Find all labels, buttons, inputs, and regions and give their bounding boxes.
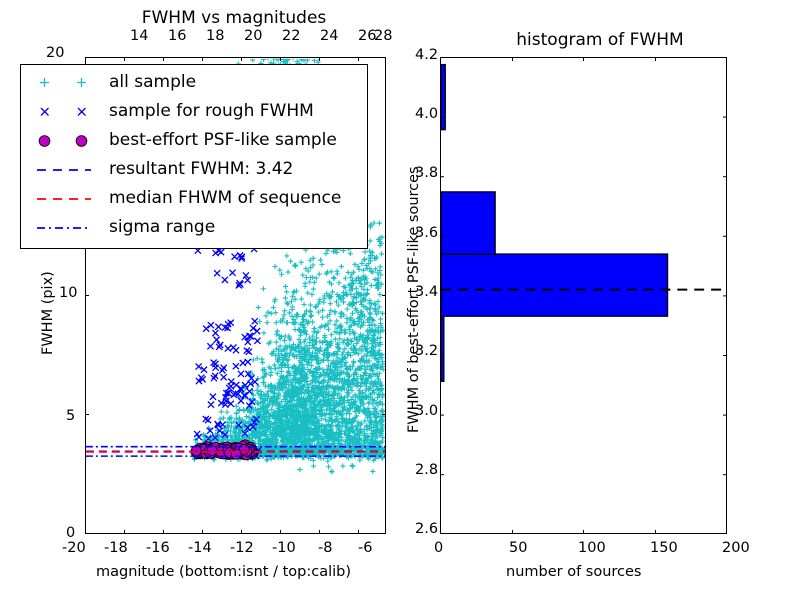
x-tick-label: 0 bbox=[434, 540, 443, 556]
y-tick-label: 4.0 bbox=[415, 106, 438, 122]
y-tick-label: 2.6 bbox=[415, 521, 438, 537]
top-tick-label: 28 bbox=[374, 28, 392, 44]
legend-item-all-sample[interactable]: all sample bbox=[27, 68, 361, 97]
right-plot-axes bbox=[440, 57, 727, 534]
plus-icon bbox=[27, 68, 109, 97]
cross-icon bbox=[27, 97, 109, 126]
top-tick-label: 18 bbox=[206, 28, 224, 44]
bottom-tick-label: -10 bbox=[272, 540, 296, 556]
left-panel-ylabel: FWHM (pix) bbox=[40, 271, 56, 355]
dashed-line-icon bbox=[27, 155, 109, 184]
bottom-tick-label: -12 bbox=[230, 540, 254, 556]
legend-label: sigma range bbox=[109, 219, 215, 236]
bottom-tick-label: -16 bbox=[146, 540, 170, 556]
histogram-bars bbox=[441, 65, 668, 382]
x-tick-label: 50 bbox=[509, 540, 527, 556]
legend-item-sigma-range[interactable]: sigma range bbox=[27, 213, 361, 242]
right-plot-data-layer bbox=[441, 58, 726, 533]
y-tick-label: 5 bbox=[66, 408, 75, 424]
legend-item-resultant-fwhm[interactable]: resultant FWHM: 3.42 bbox=[27, 155, 361, 184]
figure-canvas: FWHM vs magnitudes 14 16 18 20 22 24 26 … bbox=[0, 0, 800, 600]
right-panel-title: histogram of FWHM bbox=[480, 30, 720, 50]
left-panel-legend: all sample sample for rough FWHM bbox=[20, 64, 368, 249]
right-panel-ylabel: FWHM of best-effort PSF-like sources bbox=[406, 166, 422, 433]
legend-item-median-fwhm[interactable]: median FHWM of sequence bbox=[27, 184, 361, 213]
circle-icon bbox=[27, 126, 109, 155]
left-panel-title: FWHM vs magnitudes bbox=[78, 8, 390, 28]
y-tick-label: 20 bbox=[46, 45, 64, 61]
legend-label: resultant FWHM: 3.42 bbox=[109, 161, 293, 178]
x-tick-label: 150 bbox=[650, 540, 678, 556]
y-tick-label: 4.2 bbox=[415, 47, 438, 63]
top-tick-label: 16 bbox=[168, 28, 186, 44]
legend-label: all sample bbox=[109, 74, 196, 91]
top-tick-label: 24 bbox=[320, 28, 338, 44]
legend-label: median FHWM of sequence bbox=[109, 190, 341, 207]
y-tick-label: 2.8 bbox=[415, 462, 438, 478]
legend-item-psf-sample[interactable]: best-effort PSF-like sample bbox=[27, 126, 361, 155]
left-panel-xlabel: magnitude (bottom:isnt / top:calib) bbox=[96, 564, 351, 580]
histogram-bar bbox=[441, 254, 668, 316]
histogram-bar bbox=[441, 192, 495, 254]
legend-label: best-effort PSF-like sample bbox=[109, 132, 337, 149]
right-panel-xlabel: number of sources bbox=[506, 564, 642, 580]
dashdot-line-icon bbox=[27, 213, 109, 242]
top-tick-label: 14 bbox=[130, 28, 148, 44]
top-tick-label: 20 bbox=[244, 28, 262, 44]
y-tick-label: 0 bbox=[66, 525, 75, 541]
x-tick-label: 200 bbox=[722, 540, 750, 556]
bottom-tick-label: -20 bbox=[62, 540, 86, 556]
top-tick-label: 22 bbox=[282, 28, 300, 44]
bottom-tick-label: -6 bbox=[358, 540, 372, 556]
bottom-tick-label: -8 bbox=[318, 540, 332, 556]
dashed-line-icon bbox=[27, 184, 109, 213]
x-tick-label: 100 bbox=[578, 540, 606, 556]
legend-label: sample for rough FWHM bbox=[109, 103, 314, 120]
bottom-tick-label: -18 bbox=[104, 540, 128, 556]
histogram-bar bbox=[441, 65, 445, 130]
bottom-tick-label: -14 bbox=[188, 540, 212, 556]
legend-item-rough-sample[interactable]: sample for rough FWHM bbox=[27, 97, 361, 126]
y-tick-label: 10 bbox=[59, 285, 77, 301]
histogram-bar bbox=[441, 316, 444, 381]
